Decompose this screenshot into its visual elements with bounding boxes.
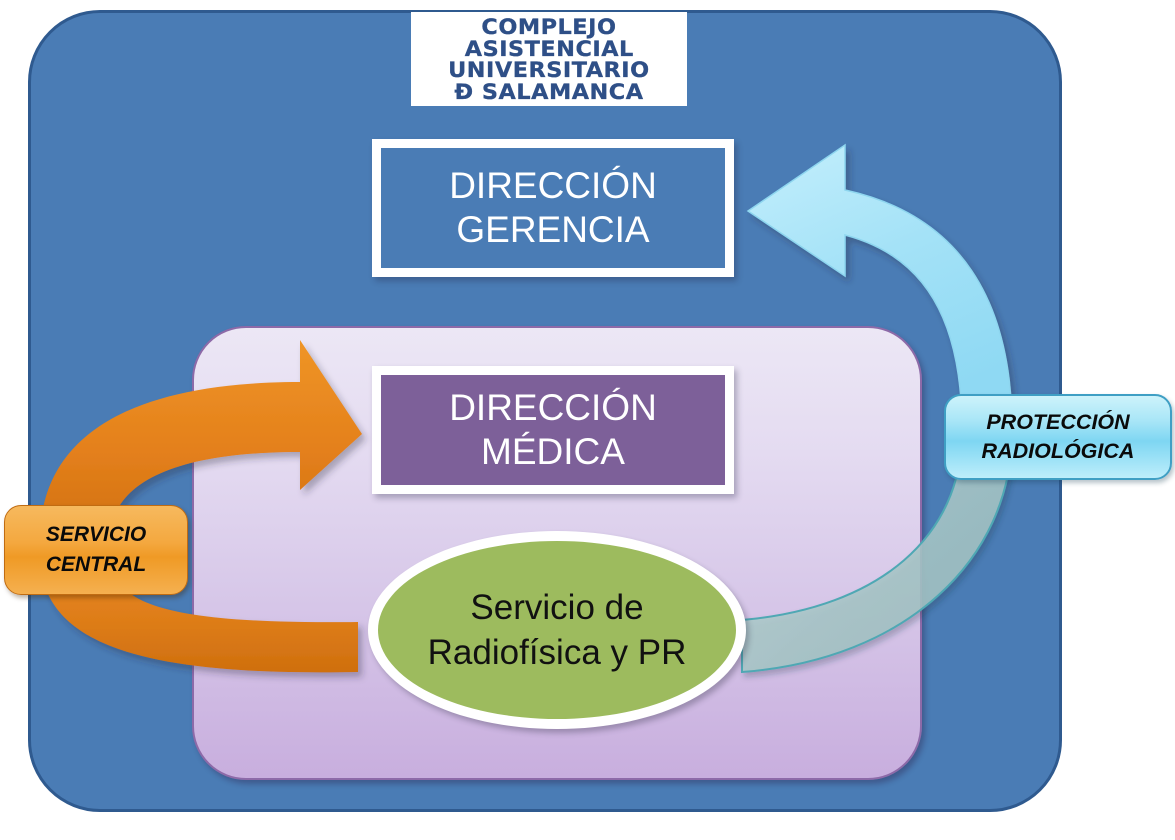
node-servicio-radiofisica-line-1: Servicio de: [470, 585, 643, 630]
node-servicio-radiofisica-pr[interactable]: Servicio de Radiofísica y PR: [368, 531, 746, 729]
diagram-canvas: COMPLEJO ASISTENCIAL UNIVERSITARIO Ð SAL…: [0, 0, 1175, 840]
callout-servicio-central[interactable]: SERVICIO CENTRAL: [4, 505, 188, 595]
callout-proteccion-radiologica-line-2: RADIOLÓGICA: [982, 437, 1135, 466]
callout-proteccion-radiologica-line-1: PROTECCIÓN: [986, 408, 1129, 437]
callout-servicio-central-line-2: CENTRAL: [46, 550, 146, 580]
callout-proteccion-radiologica[interactable]: PROTECCIÓN RADIOLÓGICA: [944, 394, 1172, 480]
cyan-arrow-to-direccion-gerencia: [748, 145, 1012, 430]
callout-servicio-central-line-1: SERVICIO: [46, 520, 146, 550]
node-servicio-radiofisica-line-2: Radiofísica y PR: [428, 630, 687, 675]
